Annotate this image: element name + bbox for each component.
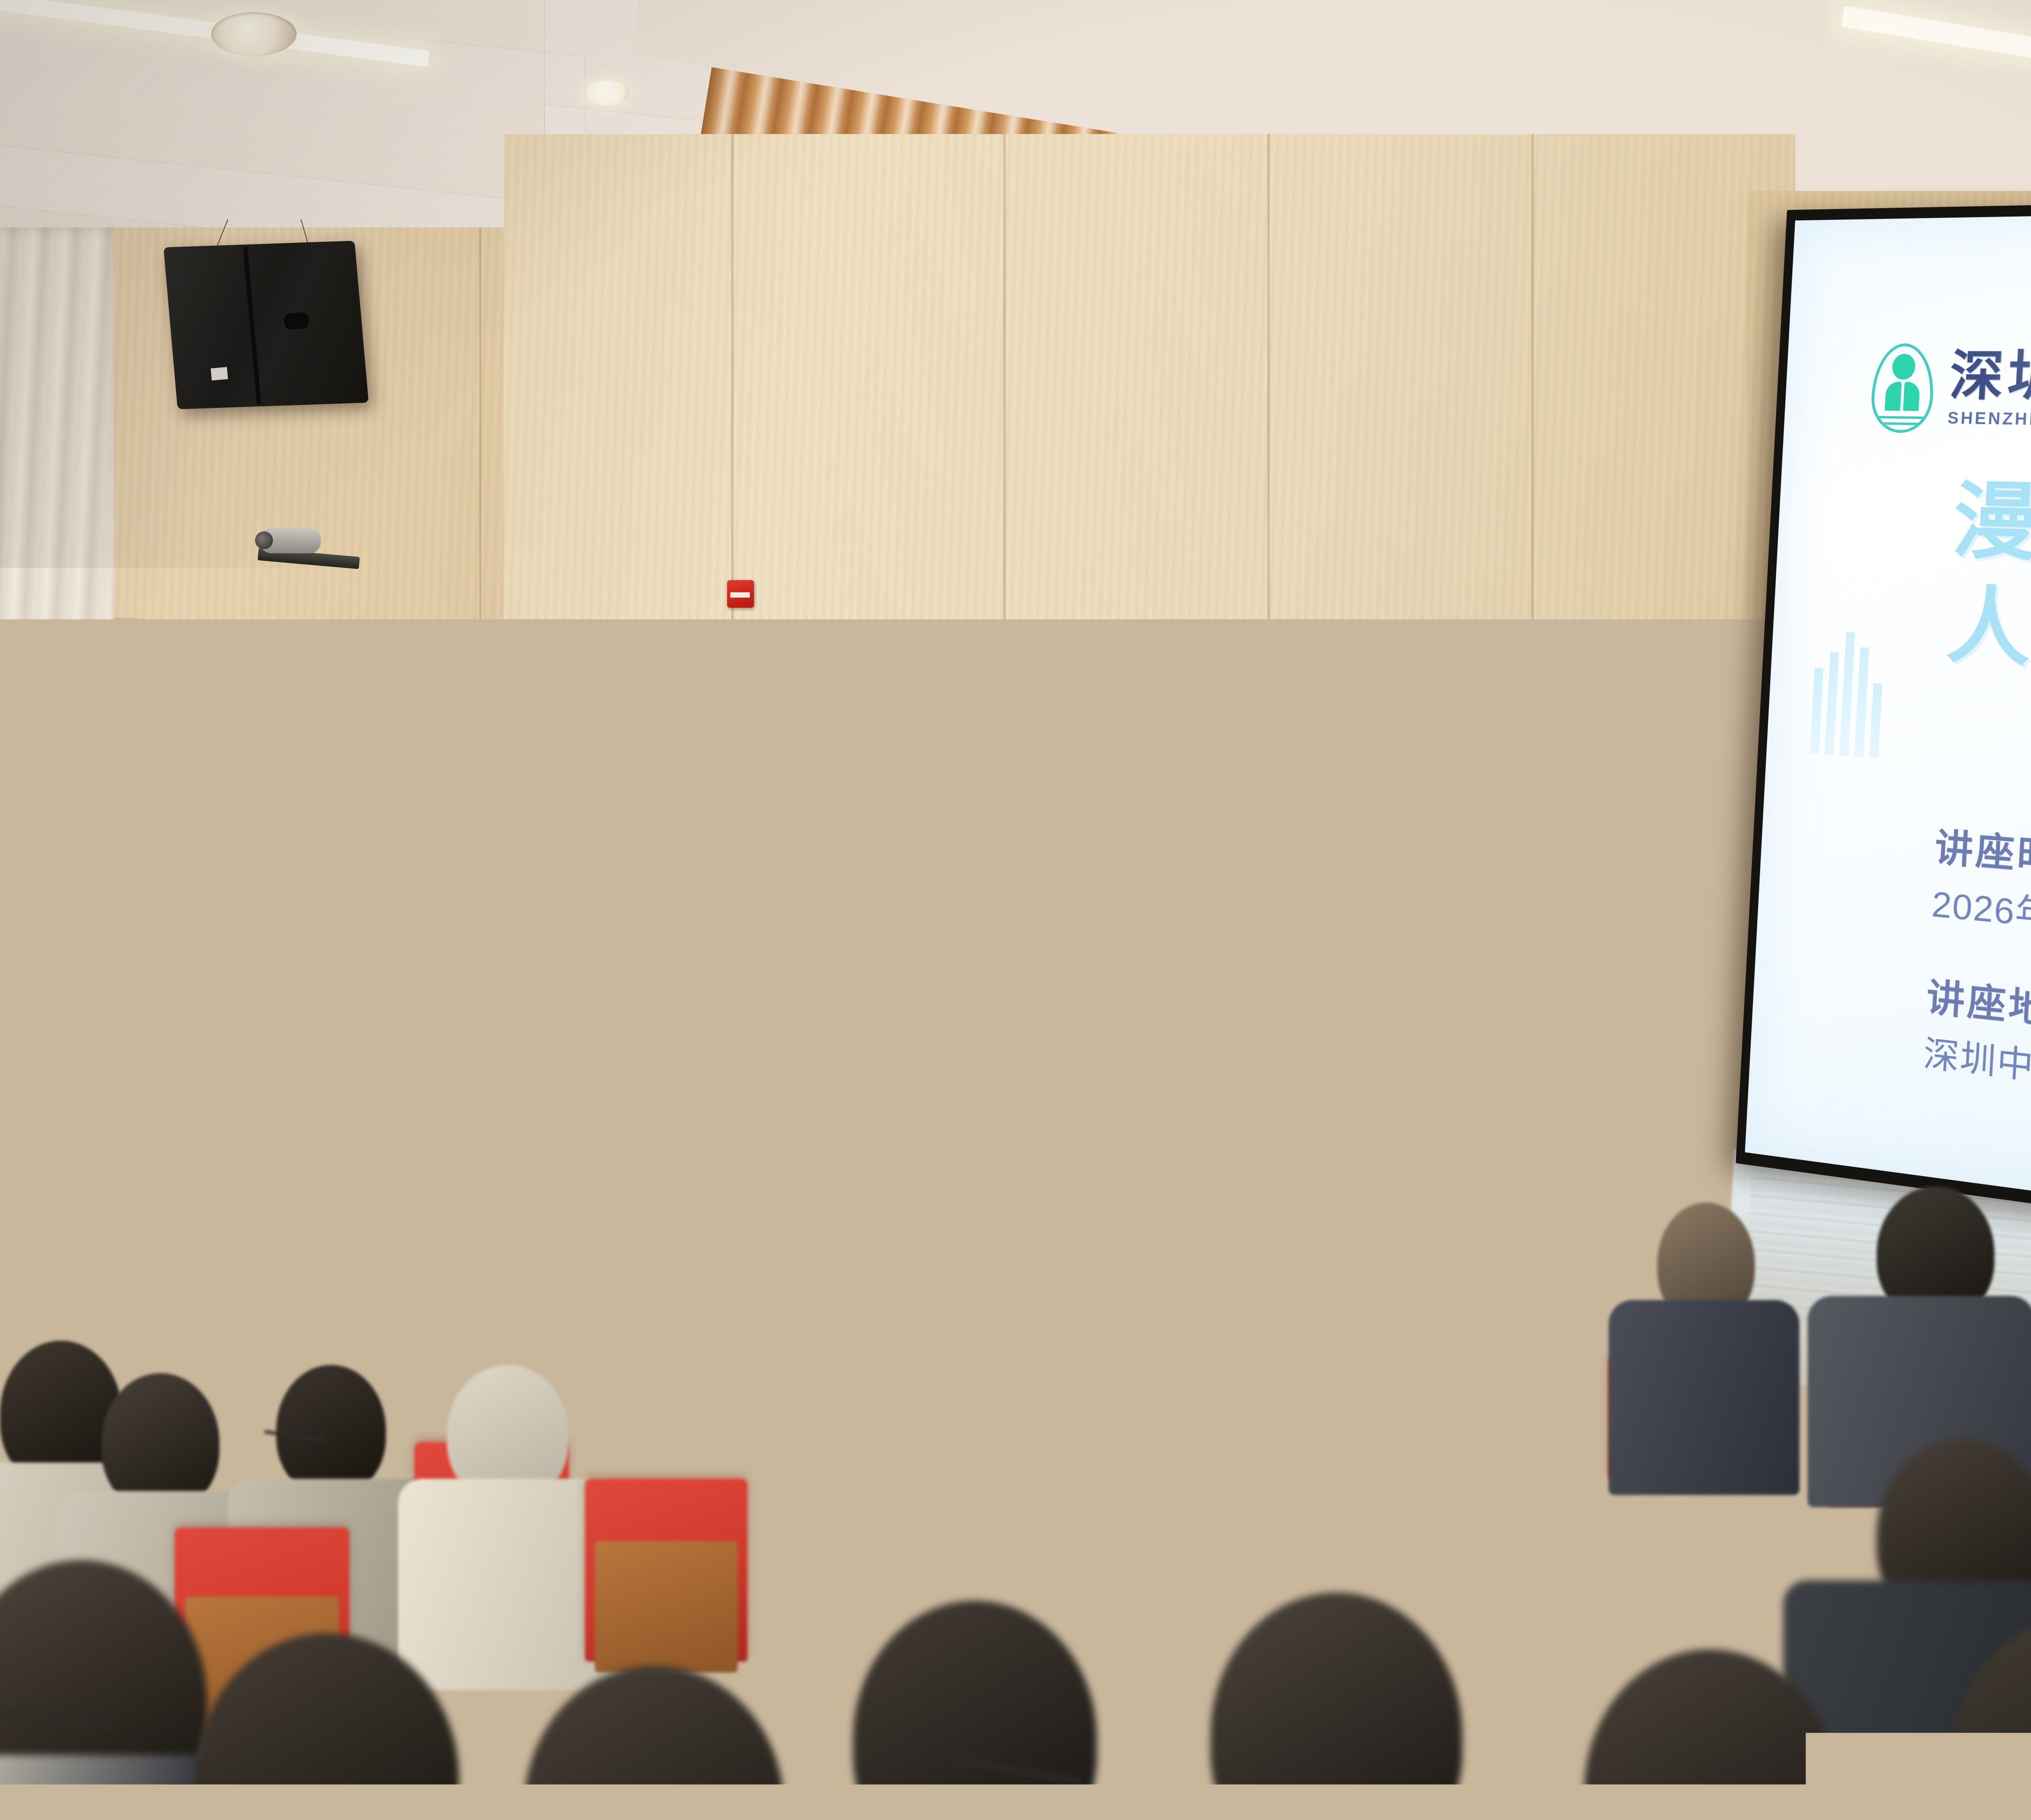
recessed-downlight [585, 80, 630, 106]
lecture-location-value: 深圳中学新校区B203 [1922, 1024, 2031, 1118]
wall-outlet [1634, 1048, 1663, 1072]
slide-decor-bars-icon [1810, 630, 1885, 758]
shirt-placket [1479, 829, 1483, 1003]
wall-speaker [163, 241, 368, 409]
jbl-logo-icon [211, 367, 228, 380]
audience-body [1609, 1300, 1799, 1495]
fire-alarm-label [730, 592, 750, 598]
speaker-port [284, 312, 309, 330]
lapel-mic-wire [1519, 804, 1568, 1016]
door-vision-window [122, 768, 155, 930]
leaf-dot-icon [1892, 354, 1916, 380]
leaf-shield-icon [1870, 343, 1936, 433]
speaker-hair-highlight [1462, 723, 1503, 738]
lecture-time-value: 2026年1月22日 16:00-17:00 [1931, 875, 2031, 974]
leaf-base-lines-icon [1877, 412, 1925, 425]
door-handle[interactable] [162, 1072, 211, 1081]
camera-lens-icon [255, 531, 273, 549]
emblem-dot-icon [1353, 971, 1366, 985]
screen-glare [1909, 201, 2031, 849]
audience-head [102, 1373, 219, 1511]
door-lock-escutcheon [205, 1064, 215, 1103]
audience-head [276, 1365, 386, 1495]
control-panel-screen[interactable] [576, 831, 613, 855]
student-uniform-jacket [609, 1012, 1227, 1820]
student-uniform-shoulder [634, 1020, 1202, 1113]
door-closer [73, 628, 126, 651]
standing-student [609, 711, 1259, 1820]
lecture-time-heading: 讲座时间 [1934, 817, 2031, 886]
leaf-fan-icon [1884, 381, 1920, 411]
recessed-downlight [211, 12, 297, 56]
bottle-cap [1328, 858, 1342, 867]
lecture-hall-photo: 深圳中学 SHENZHEN MIDDLE SCHOOL 漫谈统计学与 人工智能 … [0, 0, 2031, 1820]
speaker-ear [1508, 760, 1519, 778]
student-head [682, 711, 922, 995]
